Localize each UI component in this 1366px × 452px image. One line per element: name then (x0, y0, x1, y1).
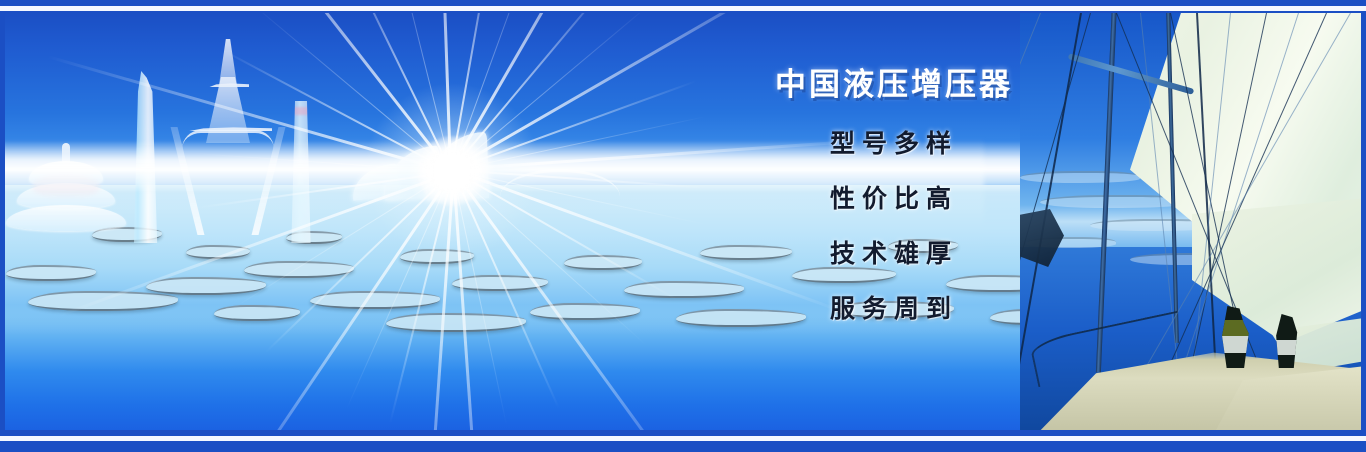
frame-top-border (0, 0, 1366, 13)
landmass-shape (386, 313, 526, 332)
temple-tier (6, 205, 126, 231)
frame-right-border (1361, 0, 1366, 452)
sailboat-photo (1020, 13, 1366, 430)
frame-bottom-white-stripe (0, 436, 1366, 441)
landmass-shape (214, 305, 300, 321)
slogan-item: 服务周到 (744, 289, 1044, 325)
landmass-shape (624, 281, 744, 298)
light-burst-core (417, 136, 487, 206)
landmass-shape (530, 303, 640, 320)
landmass-shape (146, 277, 266, 295)
artwork-stage: 中国液压增压器 型号多样 性价比高 技术雄厚 服务周到 (0, 13, 1366, 430)
slogan-item: 型号多样 (744, 124, 1044, 160)
marketing-text-block: 中国液压增压器 型号多样 性价比高 技术雄厚 服务周到 (744, 59, 1044, 325)
page-title: 中国液压增压器 (744, 59, 1044, 104)
frame-left-border (0, 0, 5, 452)
slogan-list: 型号多样 性价比高 技术雄厚 服务周到 (744, 124, 1044, 325)
landmass-shape (6, 265, 96, 281)
eiffel-tower-icon (176, 39, 280, 235)
frame-top-white-stripe (0, 6, 1366, 11)
frame-bottom-border (0, 430, 1366, 452)
slogan-item: 性价比高 (744, 179, 1044, 215)
eiffel-deck (207, 83, 249, 87)
promo-banner: 中国液压增压器 型号多样 性价比高 技术雄厚 服务周到 (0, 0, 1366, 452)
slogan-item: 技术雄厚 (744, 234, 1044, 270)
